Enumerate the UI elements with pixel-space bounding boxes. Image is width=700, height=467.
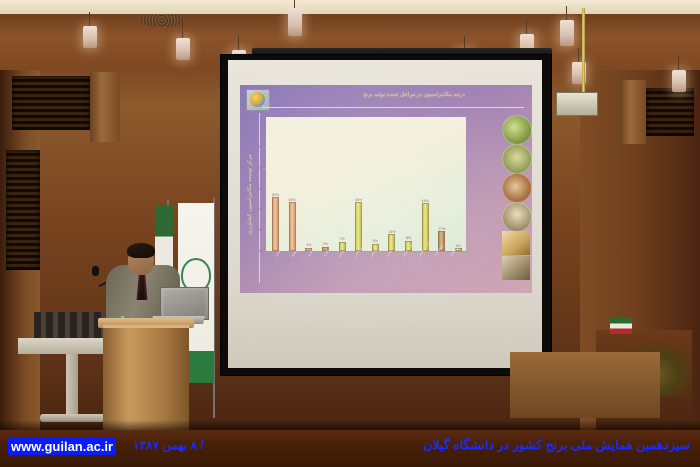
- chart-bar-slot: 45%: [355, 147, 362, 251]
- globe-icon: [250, 92, 265, 107]
- microphone-icon: [92, 266, 99, 276]
- wall-grill-mid-left: [6, 150, 40, 270]
- chart-bar: [289, 202, 296, 251]
- pendant-lamp-4: [288, 8, 302, 36]
- desk-flag: [610, 318, 632, 334]
- wall-pillar-left: [90, 72, 120, 142]
- pendant-lamp-8: [560, 20, 574, 46]
- chart-bar-value-label: 5%: [373, 239, 378, 243]
- chart-y-tick: [263, 147, 266, 148]
- chart-bar-value-label: 50%: [272, 193, 279, 197]
- chart-bar-value-label: 8%: [406, 236, 411, 240]
- chart-bar-value-label: 2%: [323, 242, 328, 246]
- slide-side-rule: [259, 113, 260, 283]
- chart-bar-value-label: 44%: [422, 199, 429, 203]
- chart-y-tick: [263, 230, 266, 231]
- chart-bar-slot: 7%: [339, 147, 346, 251]
- chart-bar-value-label: 7%: [339, 237, 344, 241]
- screenshot-canvas: درجه مکانیزاسیون در مراحل عمده تولید برن…: [0, 0, 700, 467]
- photo-rice-mill-icon: [502, 231, 530, 255]
- presenter-hair: [127, 243, 155, 258]
- date-text: ۸ بهمن ۱۳۸۷: [133, 438, 197, 452]
- podium: [103, 325, 189, 433]
- bar-chart-plot-area: 100%80%60%40%20%0% 50%45%1%2%7%45%5%14%8…: [266, 117, 466, 252]
- ceiling-vent-left: [140, 14, 184, 27]
- chart-y-tick: [263, 189, 266, 190]
- chart-y-tick: [263, 251, 266, 252]
- banner-shadow: [0, 420, 700, 430]
- photo-harvester-icon: [502, 115, 532, 145]
- slide-photo-strip: [501, 115, 531, 285]
- wall-pillar-right: [620, 80, 646, 144]
- chart-bar-slot: 45%: [289, 147, 296, 251]
- footer-banner: www.guilan.ac.ir / ۸ بهمن ۱۳۸۷ سیزدهمین …: [0, 430, 700, 467]
- chart-bar-slot: 44%: [422, 147, 429, 251]
- chart-bar-slot: 2%: [322, 147, 329, 251]
- photo-packaging-icon: [502, 256, 530, 280]
- wall-grill-far-right: [646, 88, 694, 136]
- chart-bar: [272, 197, 279, 251]
- chart-bar-slot: 1%: [305, 147, 312, 251]
- chart-bar-slot: 50%: [272, 147, 279, 251]
- photo-tractor-icon: [502, 173, 532, 203]
- chart-y-tick: [263, 168, 266, 169]
- wall-grill-left: [12, 76, 90, 130]
- chart-x-axis-labels: شخمدیسک و تسطیحخزانه‌گیرینشاکاریوجینسم‌پ…: [266, 254, 466, 290]
- photo-combine-icon: [502, 202, 532, 232]
- chart-bar-value-label: 1%: [306, 243, 311, 247]
- date-separator: /: [200, 438, 203, 452]
- website-url[interactable]: www.guilan.ac.ir: [8, 438, 116, 455]
- projector-mount-box: [556, 92, 598, 116]
- chart-bar-value-label: 45%: [289, 198, 296, 202]
- chart-bar-slot: 8%: [405, 147, 412, 251]
- slide-title-rule: [262, 107, 524, 108]
- pendant-lamp-10: [672, 70, 686, 92]
- pendant-lamp-2: [176, 38, 190, 60]
- chart-bar-value-label: 17%: [438, 227, 445, 231]
- chart-bars: 50%45%1%2%7%45%5%14%8%44%17%0%: [272, 147, 462, 251]
- photo-field-icon: [502, 144, 532, 174]
- presentation-slide: درجه مکانیزاسیون در مراحل عمده تولید برن…: [240, 85, 532, 293]
- ceiling-cable: [582, 8, 585, 96]
- chart-bar-value-label: 14%: [388, 230, 395, 234]
- chart-bar-slot: 17%: [438, 147, 445, 251]
- chart-bar-slot: 14%: [388, 147, 395, 251]
- chart-y-tick: [263, 209, 266, 210]
- chart-bar-slot: 0%: [455, 147, 462, 251]
- slide-title: درجه مکانیزاسیون در مراحل عمده تولید برن…: [314, 92, 514, 98]
- side-table-leg: [66, 354, 78, 422]
- chart-bar-slot: 5%: [372, 147, 379, 251]
- right-desk: [510, 352, 660, 418]
- event-title: سیزدهمین همایش ملی برنج کشور در دانشگاه …: [423, 437, 690, 452]
- pendant-lamp-1: [83, 26, 97, 48]
- chart-bar-value-label: 45%: [355, 198, 362, 202]
- chart-bar: [355, 202, 362, 251]
- slide-side-label: مرکز توسعه مکانیزاسیون کشاورزی: [244, 115, 256, 275]
- event-date: / ۸ بهمن ۱۳۸۷: [133, 438, 204, 452]
